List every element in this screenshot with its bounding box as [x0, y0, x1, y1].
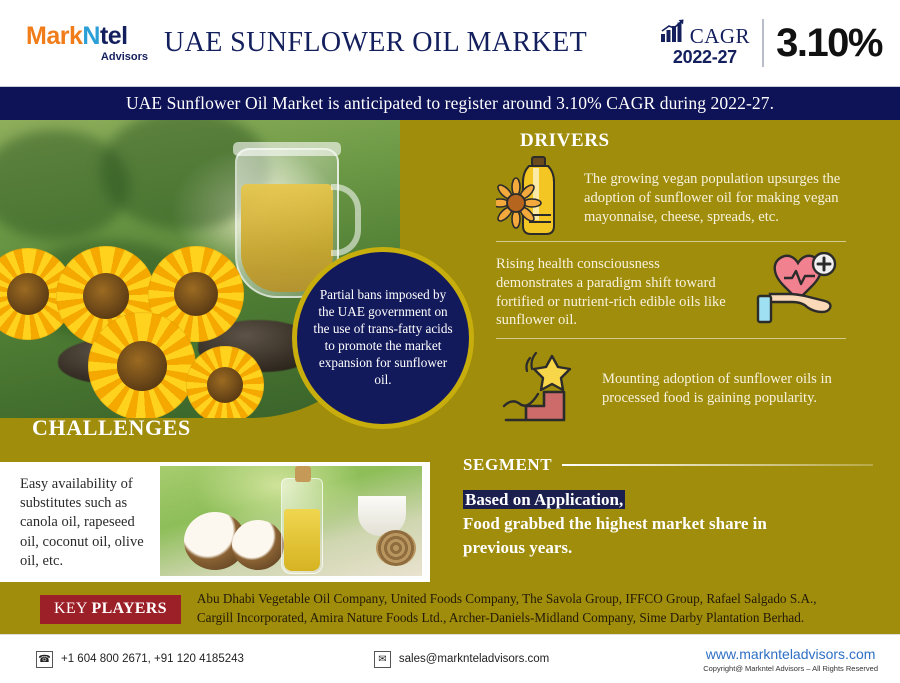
- header-bar: MarkNtel Advisors UAE SUNFLOWER OIL MARK…: [0, 0, 900, 86]
- key-players-line-2: Cargill Incorporated, Amira Nature Foods…: [197, 609, 817, 628]
- heart-in-hand-plus-icon: [748, 252, 840, 333]
- cagr-divider: [762, 19, 764, 67]
- logo-text-n: N: [82, 22, 100, 50]
- driver-item-2: Rising health consciousness demonstrates…: [496, 252, 886, 333]
- challenges-photo: [160, 466, 422, 576]
- segment-line-2: Food grabbed the highest market share in: [463, 514, 767, 533]
- driver-text-2: Rising health consciousness demonstrates…: [496, 255, 734, 330]
- bottle-cork: [295, 466, 311, 482]
- cagr-label-row: CAGR: [660, 19, 750, 48]
- olive-oil-bottle: [281, 478, 323, 574]
- drivers-heading: DRIVERS: [520, 130, 610, 152]
- footer-copyright: Copyright@ Markntel Advisors – All Right…: [703, 664, 878, 673]
- segment-highlight: Based on Application,: [463, 490, 625, 509]
- challenges-text: Easy availability of substitutes such as…: [0, 462, 160, 582]
- driver-item-3: Mounting adoption of sunflower oils in p…: [496, 348, 886, 429]
- driver-text-1: The growing vegan population upsurges th…: [584, 170, 886, 226]
- footer-website-link[interactable]: www.marknteladvisors.com: [703, 646, 878, 662]
- footer-email[interactable]: ✉ sales@marknteladvisors.com: [374, 651, 549, 668]
- driver-separator-2: [496, 338, 846, 339]
- brand-logo[interactable]: MarkNtel Advisors: [0, 24, 150, 63]
- footer-email-text: sales@marknteladvisors.com: [399, 653, 549, 665]
- footer-phone-text: +1 604 800 2671, +91 120 4185243: [61, 653, 244, 665]
- key-players-row: KEY PLAYERS Abu Dhabi Vegetable Oil Comp…: [0, 586, 900, 632]
- coconut-half-2: [232, 520, 284, 570]
- segment-line-3: previous years.: [463, 538, 572, 557]
- footer-phone[interactable]: ☎ +1 604 800 2671, +91 120 4185243: [36, 651, 244, 668]
- banner-text: UAE Sunflower Oil Market is anticipated …: [126, 93, 774, 114]
- sunflower-oil-bottle-icon: [496, 155, 570, 242]
- envelope-icon: ✉: [374, 651, 391, 668]
- cagr-label: CAGR: [690, 25, 750, 47]
- footer-bar: ☎ +1 604 800 2671, +91 120 4185243 ✉ sal…: [0, 634, 900, 683]
- key-players-badge-part1: KEY: [54, 600, 87, 617]
- logo-wordmark: MarkNtel: [26, 24, 128, 49]
- segment-rule: [562, 464, 873, 466]
- segment-heading: SEGMENT: [463, 455, 552, 475]
- cagr-label-group: CAGR 2022-27: [660, 19, 750, 68]
- stairs-star-growth-icon: [496, 348, 588, 429]
- challenges-card: Easy availability of substitutes such as…: [0, 462, 430, 582]
- key-players-line-1: Abu Dhabi Vegetable Oil Company, United …: [197, 590, 817, 609]
- logo-subtitle: Advisors: [101, 52, 148, 63]
- challenges-heading: CHALLENGES: [32, 415, 191, 441]
- segment-header: SEGMENT: [463, 455, 873, 475]
- bottle-oil-fill: [284, 509, 320, 571]
- restriction-callout-circle: Partial bans imposed by the UAE governme…: [292, 247, 474, 429]
- key-players-badge-part2: PLAYERS: [92, 600, 167, 617]
- page-title: UAE SUNFLOWER OIL MARKET: [150, 27, 660, 59]
- key-players-badge: KEY PLAYERS: [40, 595, 181, 624]
- driver-separator-1: [496, 241, 846, 242]
- jug-handle: [331, 184, 361, 256]
- segment-body: Based on Application, Food grabbed the h…: [463, 488, 883, 560]
- headline-banner: UAE Sunflower Oil Market is anticipated …: [0, 86, 900, 120]
- infographic-page: MarkNtel Advisors UAE SUNFLOWER OIL MARK…: [0, 0, 900, 683]
- key-players-list: Abu Dhabi Vegetable Oil Company, United …: [197, 590, 817, 627]
- logo-text-mark: Mark: [26, 22, 82, 50]
- sunflower-bloom-4: [88, 312, 196, 418]
- cagr-badge: CAGR 2022-27 3.10%: [660, 19, 900, 68]
- sunflower-bloom-5: [186, 346, 264, 418]
- restriction-callout-text: Partial bans imposed by the UAE governme…: [297, 287, 469, 388]
- driver-text-3: Mounting adoption of sunflower oils in p…: [602, 370, 886, 408]
- cagr-years: 2022-27: [660, 48, 750, 67]
- footer-website-block[interactable]: www.marknteladvisors.com Copyright@ Mark…: [703, 646, 878, 673]
- twine-ball: [376, 530, 416, 566]
- cagr-value: 3.10%: [776, 21, 882, 66]
- jug-lip: [233, 142, 341, 156]
- phone-icon: ☎: [36, 651, 53, 668]
- bar-chart-growth-icon: [660, 19, 686, 48]
- driver-item-1: The growing vegan population upsurges th…: [496, 155, 886, 242]
- logo-text-tel: tel: [100, 22, 128, 50]
